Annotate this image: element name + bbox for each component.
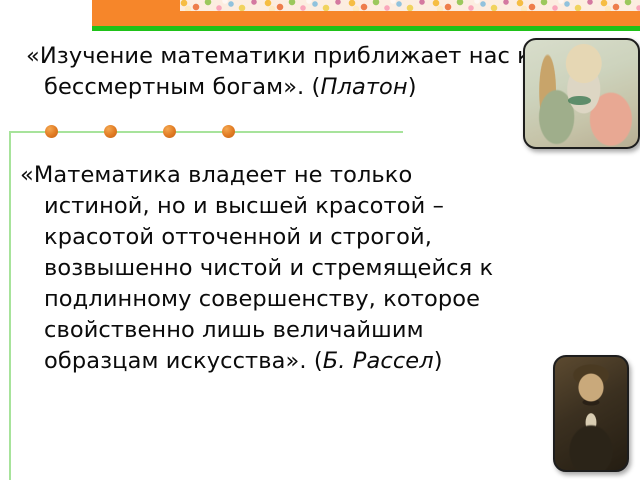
vertical-divider-line [9,131,11,480]
divider-dot-1 [45,125,58,138]
divider-dot-3 [163,125,176,138]
slide-canvas: «Изучение математики приближает нас к бе… [0,0,640,480]
banner-green-band [92,26,640,31]
russell-quote-line-3: красотой отточенной и строгой, [20,222,586,253]
confetti-texture-strip [180,0,640,11]
russell-quote-block: «Математика владеет не только истиной, н… [20,160,586,377]
russell-quote-line-1: «Математика владеет не только [20,162,412,188]
plato-portrait [523,38,640,149]
plato-quote-closing: ) [408,74,417,100]
plato-author-name: Платон [320,74,407,100]
russell-quote-line-6: свойственно лишь величайшим [20,315,586,346]
divider-dot-2 [104,125,117,138]
plato-quote-line-1: «Изучение математики приближает нас к [26,43,531,69]
russell-quote-line-7-text: образцам искусства». ( [44,348,323,374]
plato-quote-line-2: бессмертным богам». (Платон) [26,72,586,103]
plato-quote-block: «Изучение математики приближает нас к бе… [26,41,586,103]
russell-portrait [553,355,629,472]
divider-dot-4 [222,125,235,138]
russell-quote-line-4: возвышенно чистой и стремящейся к [20,253,586,284]
top-banner [92,0,640,26]
russell-author-name: Б. Рассел [323,348,434,374]
russell-quote-line-7: образцам искусства». (Б. Рассел) [20,346,586,377]
russell-quote-line-5: подлинному совершенству, которое [20,284,586,315]
horizontal-divider-line [9,131,403,133]
russell-quote-closing: ) [434,348,443,374]
russell-quote-line-2: истиной, но и высшей красотой – [20,191,586,222]
plato-quote-line-2-text: бессмертным богам». ( [44,74,320,100]
